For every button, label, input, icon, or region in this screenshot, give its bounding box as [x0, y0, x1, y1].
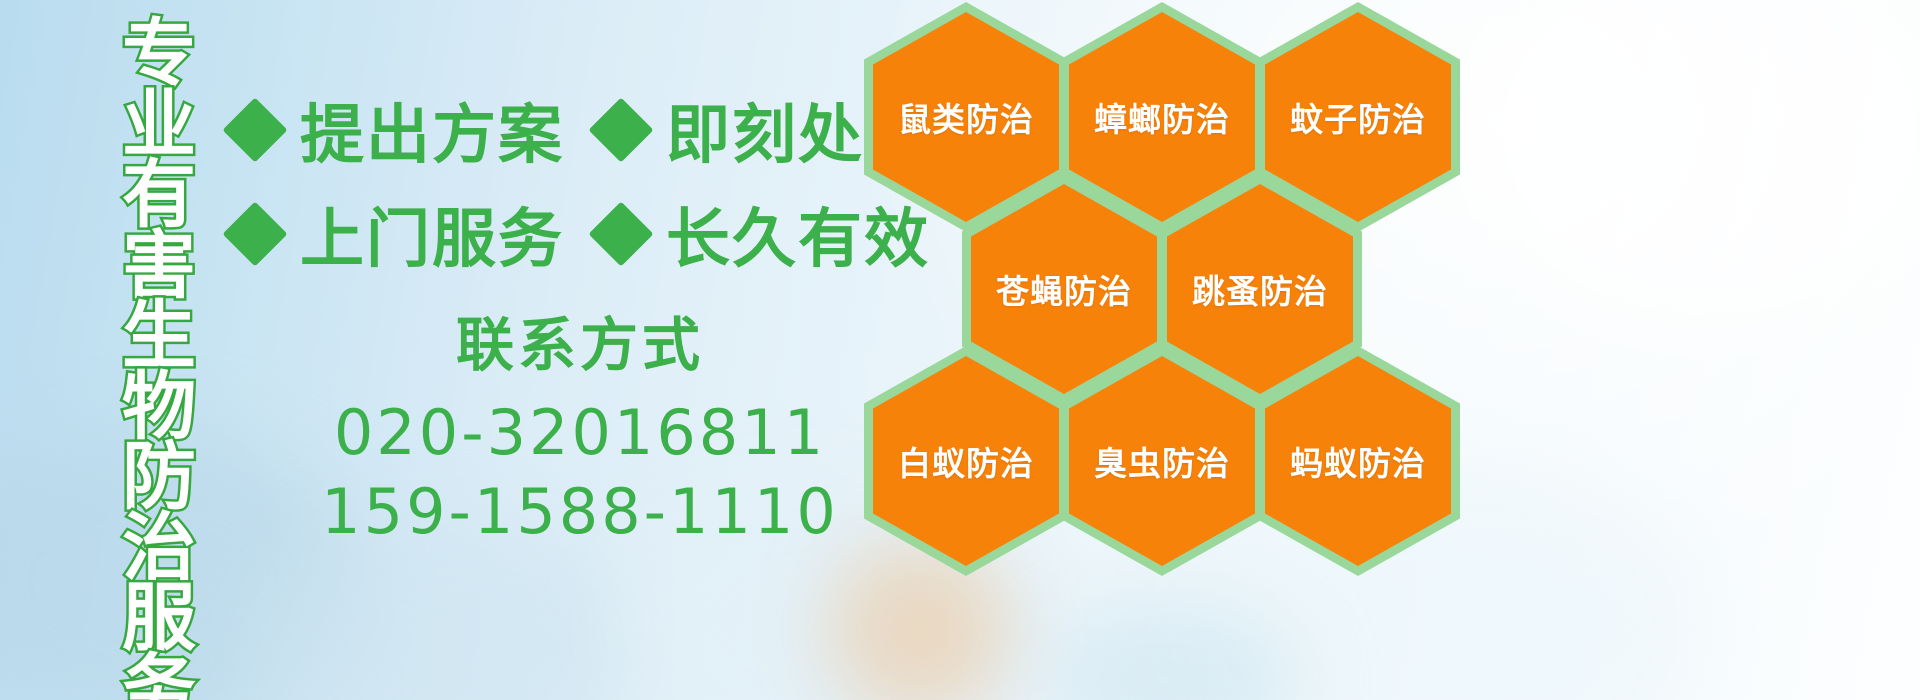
bokeh-blob: [1450, 0, 1920, 340]
diamond-icon: [588, 97, 653, 162]
contact-title: 联系方式: [300, 312, 860, 379]
service-hex-bedbug[interactable]: 臭虫防治: [1060, 346, 1264, 576]
vertical-slogan-char: 有: [122, 159, 196, 232]
vertical-slogan-char: 专: [122, 18, 196, 91]
phone-number-landline[interactable]: 020-32016811: [300, 393, 860, 472]
vertical-slogan-char: 业: [122, 89, 196, 162]
feature-label: 提出方案: [300, 84, 564, 176]
service-hex-label: 鼠类防治: [898, 93, 1034, 141]
feature-label: 上门服务: [300, 188, 564, 280]
vertical-slogan-char: 防: [122, 441, 196, 514]
service-hex-label: 蚂蚁防治: [1290, 437, 1426, 485]
diamond-icon: [222, 201, 287, 266]
service-hex-label: 白蚁防治: [898, 437, 1034, 485]
diamond-icon: [222, 97, 287, 162]
service-hex-label: 臭虫防治: [1094, 437, 1230, 485]
service-hex-label: 蚊子防治: [1290, 93, 1426, 141]
feature-item: 上门服务: [232, 188, 564, 280]
vertical-slogan-char: 务: [122, 653, 196, 700]
promo-banner: 专 业 有 害 生 物 防 治 服 务 提出方案 即刻处理 上门服务: [0, 0, 1920, 700]
service-hex-label: 苍蝇防治: [996, 265, 1132, 313]
service-hex-ant[interactable]: 蚂蚁防治: [1256, 346, 1460, 576]
diamond-icon: [588, 201, 653, 266]
vertical-slogan-char: 害: [122, 230, 196, 303]
service-hex-termite[interactable]: 白蚁防治: [864, 346, 1068, 576]
vertical-slogan-char: 物: [122, 371, 196, 444]
feature-item: 提出方案: [232, 84, 564, 176]
service-hex-label: 蟑螂防治: [1094, 93, 1230, 141]
vertical-slogan-char: 治: [122, 512, 196, 585]
contact-block: 联系方式 020-32016811 159-1588-1110: [300, 312, 860, 551]
vertical-slogan-char: 生: [122, 300, 196, 373]
service-honeycomb: 鼠类防治 蟑螂防治 蚊子防治 苍蝇防治 跳蚤防治 白蚁防治: [848, 0, 1488, 700]
vertical-slogan: 专 业 有 害 生 物 防 治 服 务: [104, 18, 214, 700]
feature-row: 提出方案 即刻处理: [232, 78, 872, 182]
feature-list: 提出方案 即刻处理 上门服务 长久有效: [232, 78, 872, 286]
service-hex-label: 跳蚤防治: [1192, 265, 1328, 313]
phone-number-mobile[interactable]: 159-1588-1110: [300, 472, 860, 551]
feature-row: 上门服务 长久有效: [232, 182, 872, 286]
vertical-slogan-char: 服: [122, 582, 196, 655]
